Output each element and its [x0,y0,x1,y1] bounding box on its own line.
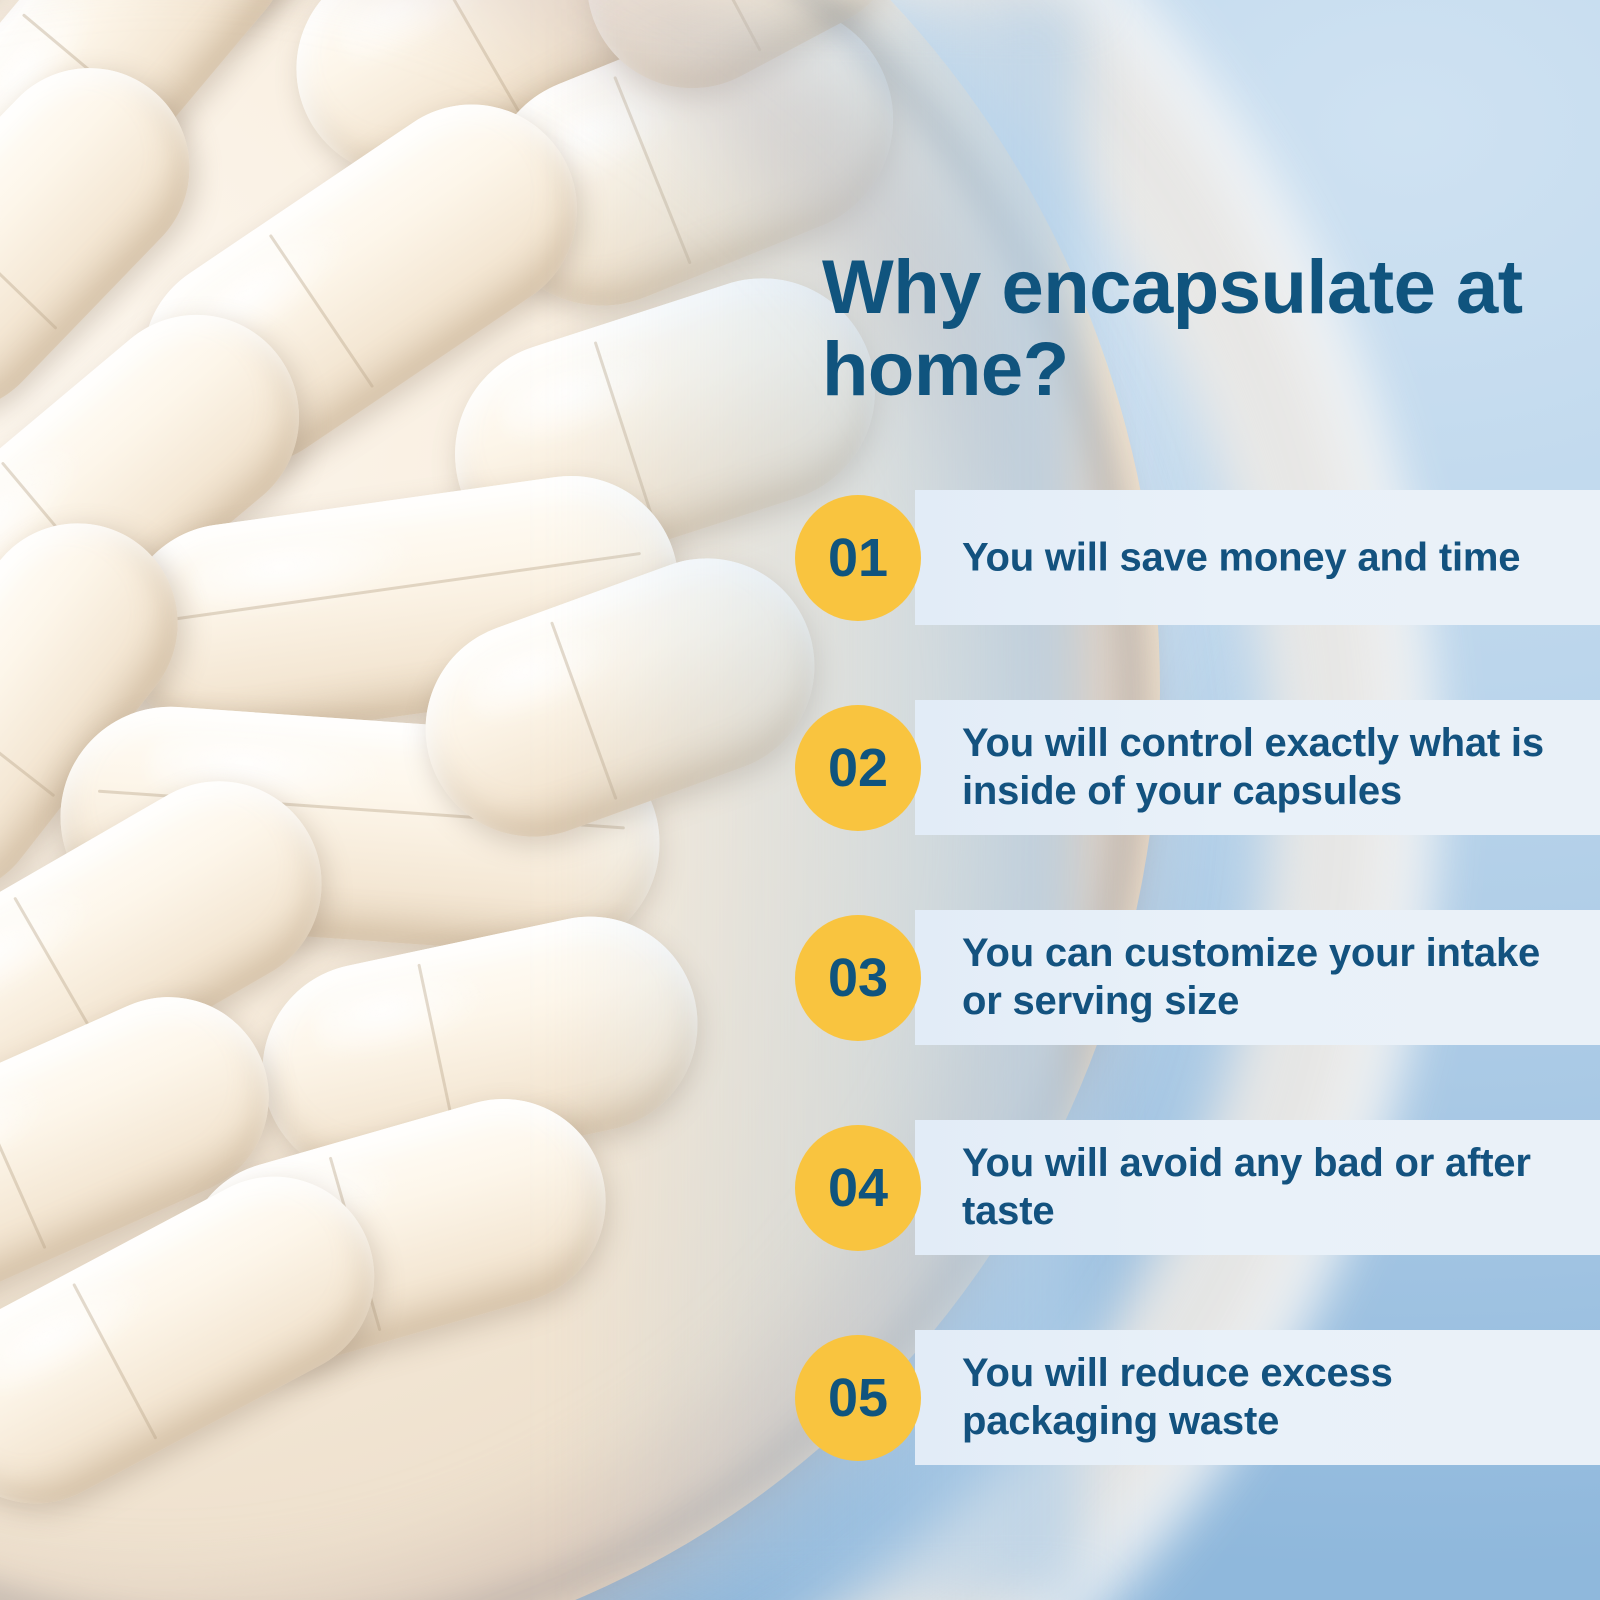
infographic-poster: Why encapsulate at home? 01 You will sav… [0,0,1600,1600]
list-item-number-badge: 02 [795,705,921,831]
list-item-number-badge: 05 [795,1335,921,1461]
list-item: 05 You will reduce excess packaging wast… [0,1330,1600,1465]
page-title: Why encapsulate at home? [822,247,1552,411]
list-item-number-badge: 03 [795,915,921,1041]
list-item-number-badge: 04 [795,1125,921,1251]
poster-content: Why encapsulate at home? 01 You will sav… [0,0,1600,1600]
list-item-text: You will avoid any bad or after taste [962,1139,1562,1237]
benefits-list: 01 You will save money and time 02 You w… [0,490,1600,1540]
list-item: 02 You will control exactly what is insi… [0,700,1600,835]
list-item: 04 You will avoid any bad or after taste [0,1120,1600,1255]
list-item: 03 You can customize your intake or serv… [0,910,1600,1045]
list-item-text: You will control exactly what is inside … [962,719,1562,817]
list-item-text: You will reduce excess packaging waste [962,1349,1562,1447]
list-item: 01 You will save money and time [0,490,1600,625]
list-item-text: You will save money and time [962,533,1562,582]
list-item-text: You can customize your intake or serving… [962,929,1562,1027]
list-item-number-badge: 01 [795,495,921,621]
